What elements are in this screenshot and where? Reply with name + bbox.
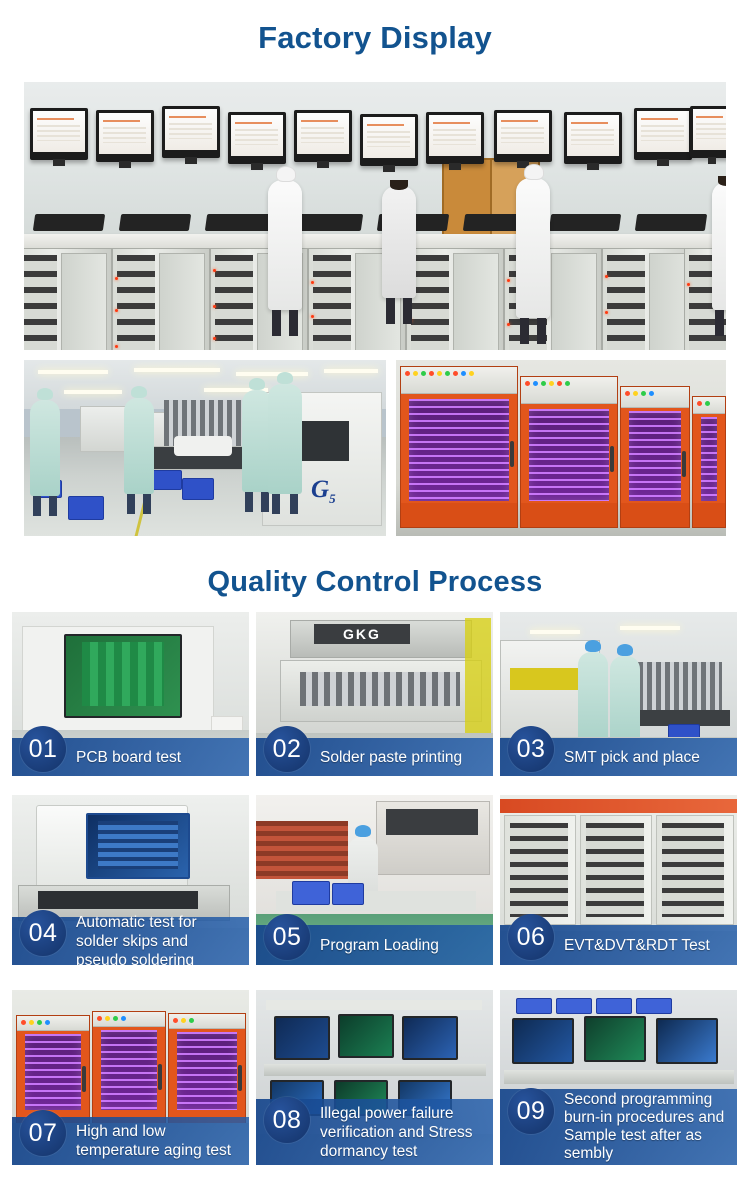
step-number-badge: 05 xyxy=(264,914,310,960)
step-caption: High and low temperature aging test xyxy=(76,1122,249,1160)
page-root: Factory Display xyxy=(0,0,750,1184)
step-caption: Illegal power failure verification and S… xyxy=(320,1104,493,1161)
qc-step-card-05[interactable]: 05 Program Loading xyxy=(256,795,493,965)
step-caption: EVT&DVT&RDT Test xyxy=(564,936,718,955)
g5-logo-sub: 5 xyxy=(329,491,336,506)
step-number-badge: 06 xyxy=(508,914,554,960)
step-number-badge: 09 xyxy=(508,1088,554,1134)
photo-aging-chambers xyxy=(396,360,726,536)
qc-step-card-04[interactable]: 04 Automatic test for solder skips and p… xyxy=(12,795,249,965)
step-number-badge: 02 xyxy=(264,726,310,772)
step-number-badge: 07 xyxy=(20,1110,66,1156)
step-number-badge: 01 xyxy=(20,726,66,772)
page-title-factory-display: Factory Display xyxy=(0,22,750,53)
g5-logo-letter: G xyxy=(311,476,329,503)
step-number-badge: 03 xyxy=(508,726,554,772)
qc-step-card-01[interactable]: 01 PCB board test xyxy=(12,612,249,776)
qc-step-card-02[interactable]: GKG 02 Solder paste printing xyxy=(256,612,493,776)
step-caption: SMT pick and place xyxy=(564,748,708,767)
photo-smt-line: G5 xyxy=(24,360,386,536)
qc-step-card-03[interactable]: 03 SMT pick and place xyxy=(500,612,737,776)
qc-step-card-09[interactable]: 09 Second programming burn-in procedures… xyxy=(500,990,737,1165)
step-caption: Second programming burn-in procedures an… xyxy=(564,1091,737,1163)
step-number-badge: 04 xyxy=(20,910,66,956)
photo-burn-in-hall xyxy=(24,82,726,350)
qc-step-card-06[interactable]: 06 EVT&DVT&RDT Test xyxy=(500,795,737,965)
qc-step-card-07[interactable]: 07 High and low temperature aging test xyxy=(12,990,249,1165)
qc-step-card-08[interactable]: 08 Illegal power failure verification an… xyxy=(256,990,493,1165)
step-number-badge: 08 xyxy=(264,1097,310,1143)
step-caption: Solder paste printing xyxy=(320,748,470,767)
step-caption: PCB board test xyxy=(76,748,189,767)
page-title-quality-control: Quality Control Process xyxy=(0,568,750,597)
step-caption: Automatic test for solder skips and pseu… xyxy=(76,913,249,966)
step-caption: Program Loading xyxy=(320,936,447,955)
